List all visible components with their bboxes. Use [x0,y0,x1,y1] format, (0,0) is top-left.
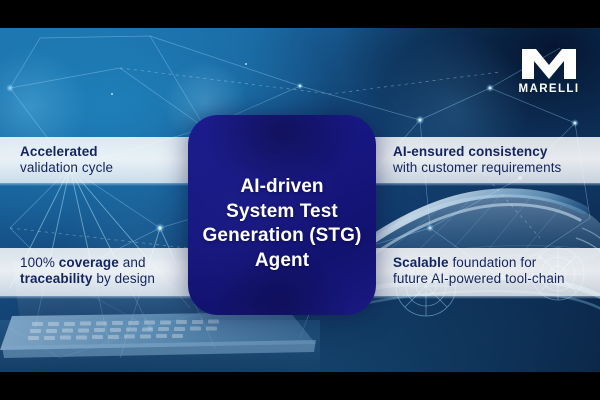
benefit-bottom-right: Scalable foundation for future AI-powere… [393,255,565,288]
panel-title-line: Generation (STG) [194,224,370,249]
center-title-panel: AI-driven System Test Generation (STG) A… [188,115,376,315]
benefit-top-right: AI-ensured consistency with customer req… [393,144,561,177]
benefit-detail: validation cycle [20,160,113,176]
benefit-bottom-left: 100% coverage and traceability by design [20,255,155,288]
benefit-text-bold: coverage [59,255,119,270]
letterbox-bottom [0,372,600,400]
benefit-headline: 100% coverage and [20,255,155,271]
benefit-text-bold: traceability [20,271,92,286]
benefit-detail: with customer requirements [393,160,561,176]
panel-title-line: Agent [194,249,370,274]
benefit-text-plain: 100% [20,255,59,270]
marelli-m-icon [516,48,582,81]
benefit-text-bold: Scalable [393,255,449,270]
benefit-detail: traceability by design [20,271,155,287]
panel-title-text: AI-driven System Test Generation (STG) A… [188,115,376,274]
panel-title-line: AI-driven [194,175,370,200]
presentation-slide: Accelerated validation cycle AI-ensured … [0,0,600,400]
benefit-headline: AI-ensured consistency [393,144,561,160]
benefit-detail: future AI-powered tool-chain [393,271,565,287]
benefit-top-left: Accelerated validation cycle [20,144,113,177]
benefit-headline: Accelerated [20,144,113,160]
marelli-wordmark: MARELLI [516,83,582,95]
benefit-text-plain: and [119,255,146,270]
benefit-text-plain: foundation for [449,255,537,270]
panel-title-line: System Test [194,200,370,225]
letterbox-top [0,0,600,28]
benefit-text-plain: by design [92,271,155,286]
marelli-logo: MARELLI [516,48,582,96]
benefit-headline: Scalable foundation for [393,255,565,271]
